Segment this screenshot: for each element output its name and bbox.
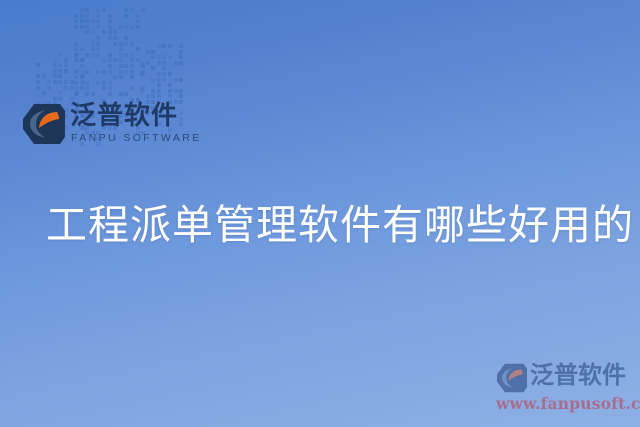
brand-name-cn: 泛普软件 xyxy=(70,101,178,131)
watermark-brand-name: 泛普软件 xyxy=(530,359,626,391)
page-title: 工程派单管理软件有哪些好用的 xyxy=(46,198,606,252)
watermark-fanpu-hexagon-swoosh-logo-icon xyxy=(496,363,528,393)
watermark-url: www.fanpusoft.com xyxy=(496,394,640,413)
watermark: 泛普软件 www.fanpusoft.com xyxy=(494,361,634,415)
brand-logo: 泛普软件 FANPU SOFTWARE xyxy=(22,101,172,153)
pixel-city-skyline-icon xyxy=(36,4,176,108)
fanpu-hexagon-swoosh-logo-icon xyxy=(22,103,66,145)
brand-name-en: FANPU SOFTWARE xyxy=(71,132,202,144)
promo-banner: 泛普软件 FANPU SOFTWARE 工程派单管理软件有哪些好用的 泛普软件 … xyxy=(0,0,640,427)
